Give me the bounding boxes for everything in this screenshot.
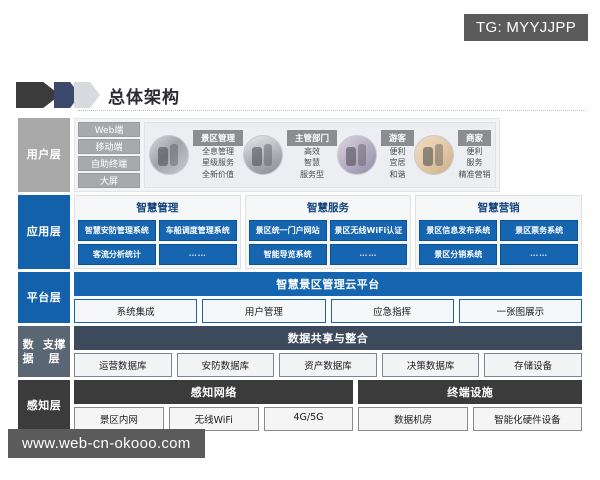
app-button[interactable]: 景区信息发布系统 <box>419 220 497 241</box>
app-group-title: 智慧管理 <box>78 199 237 217</box>
persona-item: 高效 <box>304 147 320 157</box>
app-button-more[interactable]: …… <box>159 244 237 265</box>
persona-item: 星级服务 <box>202 158 234 168</box>
app-group-smart-management: 智慧管理 智慧安防管理系统 车船调度管理系统 客流分析统计 …… <box>74 195 241 269</box>
data-cell[interactable]: 存储设备 <box>484 353 582 377</box>
persona-strip: 景区管理 全息管理 星级服务 全新价值 主管部门 高效 <box>144 122 496 188</box>
persona-item: 便利 <box>390 147 406 157</box>
layer-stack: 用户层 Web端 移动端 自助终端 大屏 <box>18 118 582 431</box>
persona-item: 精准营销 <box>459 170 491 180</box>
page-title: 总体架构 <box>108 83 180 108</box>
application-groups: 智慧管理 智慧安防管理系统 车船调度管理系统 客流分析统计 …… 智慧服务 <box>74 195 582 269</box>
bottom-watermark-badge: www.web-cn-okooo.com <box>8 429 205 458</box>
access-channel-list: Web端 移动端 自助终端 大屏 <box>78 122 140 188</box>
app-button[interactable]: 智能导览系统 <box>249 244 327 265</box>
top-watermark-badge: TG: MYYJJPP <box>464 14 588 41</box>
layer-label-line1: 数据 <box>18 338 39 366</box>
persona-title: 商家 <box>458 130 491 146</box>
channel-kiosk[interactable]: 自助终端 <box>78 156 140 171</box>
layer-label-application: 应用层 <box>18 195 70 269</box>
architecture-slide: 总体架构 用户层 Web端 移动端 自助终端 大屏 <box>8 70 592 415</box>
app-button[interactable]: 景区分销系统 <box>419 244 497 265</box>
platform-header: 智慧景区管理云平台 <box>74 272 582 296</box>
platform-cell[interactable]: 系统集成 <box>74 299 197 323</box>
layer-label-perception: 感知层 <box>18 380 70 431</box>
layer-label-user: 用户层 <box>18 118 70 192</box>
persona-merchant: 商家 便利 服务 精准营销 <box>414 130 491 180</box>
app-button-more[interactable]: …… <box>330 244 408 265</box>
persona-item: 智慧 <box>304 158 320 168</box>
channel-web[interactable]: Web端 <box>78 122 140 137</box>
app-group-title: 智慧服务 <box>249 199 408 217</box>
data-header: 数据共享与整合 <box>74 326 582 350</box>
perception-cell[interactable]: 景区内网 <box>74 407 164 431</box>
terminal-facility-column: 终端设施 数据机房 智能化硬件设备 <box>358 380 582 431</box>
data-cell[interactable]: 资产数据库 <box>279 353 377 377</box>
app-group-smart-service: 智慧服务 景区统一门户网站 景区无线WiFi认证 智能导览系统 …… <box>245 195 412 269</box>
perception-layer-body: 感知网络 景区内网 无线WiFi 4G/5G 终端设施 数据机房 智 <box>74 380 582 431</box>
platform-cell[interactable]: 一张图展示 <box>459 299 582 323</box>
title-underline-divider <box>78 110 586 111</box>
persona-item: 服务型 <box>300 170 324 180</box>
perception-network-column: 感知网络 景区内网 无线WiFi 4G/5G <box>74 380 353 431</box>
persona-item: 便利 <box>467 147 483 157</box>
channel-mobile[interactable]: 移动端 <box>78 139 140 154</box>
perception-network-header: 感知网络 <box>74 380 353 404</box>
perception-cell[interactable]: 无线WiFi <box>169 407 259 431</box>
app-button-more[interactable]: …… <box>500 244 578 265</box>
persona-title: 景区管理 <box>193 130 243 146</box>
channel-large-screen[interactable]: 大屏 <box>78 173 140 188</box>
user-layer-body: Web端 移动端 自助终端 大屏 景区管理 全息管理 星 <box>74 118 500 192</box>
persona-title: 主管部门 <box>287 130 337 146</box>
app-button[interactable]: 智慧安防管理系统 <box>78 220 156 241</box>
persona-photo-icon <box>243 135 283 175</box>
persona-scenic-management: 景区管理 全息管理 星级服务 全新价值 <box>149 130 243 180</box>
layer-label-data-support: 数据 支撑层 <box>18 326 70 377</box>
persona-item: 服务 <box>467 158 483 168</box>
data-layer-body: 数据共享与整合 运营数据库 安防数据库 资产数据库 决策数据库 存储设备 <box>74 326 582 377</box>
data-cell[interactable]: 运营数据库 <box>74 353 172 377</box>
data-cell[interactable]: 决策数据库 <box>382 353 480 377</box>
layer-data-support: 数据 支撑层 数据共享与整合 运营数据库 安防数据库 资产数据库 决策数据库 存… <box>18 326 582 377</box>
app-button[interactable]: 景区统一门户网站 <box>249 220 327 241</box>
persona-item: 全新价值 <box>202 170 234 180</box>
slide-title-row: 总体架构 <box>16 78 592 112</box>
platform-cell[interactable]: 应急指挥 <box>331 299 454 323</box>
persona-item: 和谐 <box>390 170 406 180</box>
layer-perception: 感知层 感知网络 景区内网 无线WiFi 4G/5G 终端设施 <box>18 380 582 431</box>
chevron-light-icon <box>74 82 100 108</box>
terminal-cell[interactable]: 智能化硬件设备 <box>473 407 582 431</box>
persona-authority: 主管部门 高效 智慧 服务型 <box>243 130 337 180</box>
persona-item: 全息管理 <box>202 147 234 157</box>
terminal-cell[interactable]: 数据机房 <box>358 407 467 431</box>
layer-label-platform: 平台层 <box>18 272 70 323</box>
layer-label-line2: 支撑层 <box>39 338 70 366</box>
slide-canvas: TG: MYYJJPP 总体架构 用户层 Web端 移动端 自助终端 <box>0 0 600 480</box>
layer-application: 应用层 智慧管理 智慧安防管理系统 车船调度管理系统 客流分析统计 …… <box>18 195 582 269</box>
perception-cell[interactable]: 4G/5G <box>264 407 354 431</box>
app-group-title: 智慧营销 <box>419 199 578 217</box>
persona-title: 游客 <box>381 130 414 146</box>
persona-photo-icon <box>337 135 377 175</box>
data-cell[interactable]: 安防数据库 <box>177 353 275 377</box>
app-button[interactable]: 景区无线WiFi认证 <box>330 220 408 241</box>
layer-user: 用户层 Web端 移动端 自助终端 大屏 <box>18 118 582 192</box>
app-button[interactable]: 景区票务系统 <box>500 220 578 241</box>
app-button[interactable]: 车船调度管理系统 <box>159 220 237 241</box>
platform-cell[interactable]: 用户管理 <box>202 299 325 323</box>
layer-platform: 平台层 智慧景区管理云平台 系统集成 用户管理 应急指挥 一张图展示 <box>18 272 582 323</box>
persona-photo-icon <box>149 135 189 175</box>
platform-layer-body: 智慧景区管理云平台 系统集成 用户管理 应急指挥 一张图展示 <box>74 272 582 323</box>
persona-photo-icon <box>414 135 454 175</box>
persona-tourist: 游客 便利 宜居 和谐 <box>337 130 414 180</box>
persona-item: 宜居 <box>390 158 406 168</box>
app-button[interactable]: 客流分析统计 <box>78 244 156 265</box>
app-group-smart-marketing: 智慧营销 景区信息发布系统 景区票务系统 景区分销系统 …… <box>415 195 582 269</box>
terminal-facility-header: 终端设施 <box>358 380 582 404</box>
